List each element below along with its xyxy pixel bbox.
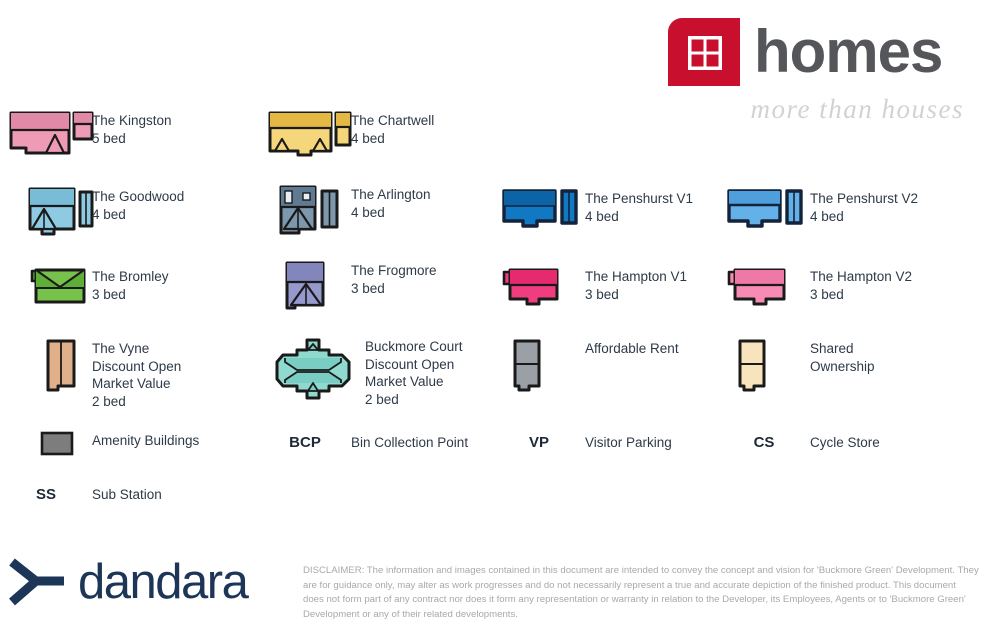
legend-item-the-hampton-v1[interactable]: The Hampton V1 3 bed <box>493 266 687 310</box>
legend-label-the-arlington: The Arlington 4 bed <box>351 184 431 221</box>
house-hampton-v1-icon <box>493 266 585 310</box>
legend-label-affordable-rent: Affordable Rent <box>585 338 679 358</box>
legend-item-affordable-rent[interactable]: Affordable Rent <box>493 338 679 398</box>
legend-item-the-chartwell[interactable]: The Chartwell 4 bed <box>259 110 434 158</box>
legend-label-the-chartwell: The Chartwell 4 bed <box>351 110 434 147</box>
legend-label-the-hampton-v1: The Hampton V1 3 bed <box>585 266 687 303</box>
legend-item-the-arlington[interactable]: The Arlington 4 bed <box>259 184 431 238</box>
footer: dandara DISCLAIMER: The information and … <box>0 548 981 632</box>
house-vyne-icon <box>0 338 92 398</box>
legend-row-1: The Kingston 5 bed The Chartwell <box>0 100 981 176</box>
legend-item-sub-station[interactable]: SS Sub Station <box>0 484 162 504</box>
legend-item-the-penshurst-v2[interactable]: The Penshurst V2 4 bed <box>718 188 918 232</box>
legend-item-visitor-parking[interactable]: VP Visitor Parking <box>493 432 672 452</box>
building-buckmore-court-icon <box>259 336 359 402</box>
house-bromley-icon <box>0 266 92 308</box>
legend-label-the-vyne: The Vyne Discount Open Market Value 2 be… <box>92 338 181 410</box>
legend-row-2: The Goodwood 4 bed T <box>0 176 981 254</box>
legend-item-the-kingston[interactable]: The Kingston 5 bed <box>0 110 172 158</box>
legend-label-shared-ownership: Shared Ownership <box>810 338 875 375</box>
legend-label-sub-station: Sub Station <box>92 484 162 504</box>
legend-label-the-penshurst-v2: The Penshurst V2 4 bed <box>810 188 918 225</box>
legend-item-the-frogmore[interactable]: The Frogmore 3 bed <box>259 260 437 312</box>
legend-item-amenity-buildings[interactable]: Amenity Buildings <box>0 430 199 458</box>
house-hampton-v2-icon <box>718 266 810 310</box>
house-penshurst-v1-icon <box>493 188 585 232</box>
legend-item-the-bromley[interactable]: The Bromley 3 bed <box>0 266 169 308</box>
dandara-chevron-icon <box>6 556 68 608</box>
legend-label-amenity-buildings: Amenity Buildings <box>92 430 199 450</box>
house-arlington-icon <box>259 184 351 238</box>
legend-label-the-penshurst-v1: The Penshurst V1 4 bed <box>585 188 693 225</box>
building-affordable-rent-icon <box>493 338 585 398</box>
legend-label-the-frogmore: The Frogmore 3 bed <box>351 260 437 297</box>
code-ss: SS <box>0 484 92 503</box>
house-frogmore-icon <box>259 260 351 312</box>
disclaimer-text: DISCLAIMER: The information and images c… <box>303 564 979 622</box>
dandara-logo: dandara <box>6 556 247 608</box>
legend-item-shared-ownership[interactable]: Shared Ownership <box>718 338 875 398</box>
legend-page: homes more than houses <box>0 0 981 632</box>
legend-item-cycle-store[interactable]: CS Cycle Store <box>718 432 880 452</box>
legend-label-bin-collection-point: Bin Collection Point <box>351 432 468 452</box>
code-cs: CS <box>718 432 810 451</box>
legend-item-the-vyne[interactable]: The Vyne Discount Open Market Value 2 be… <box>0 338 181 410</box>
swatch-amenity-icon <box>0 430 92 458</box>
house-goodwood-icon <box>0 186 92 238</box>
legend-label-the-bromley: The Bromley 3 bed <box>92 266 169 303</box>
legend-item-buckmore-court[interactable]: Buckmore Court Discount Open Market Valu… <box>259 336 463 408</box>
legend-label-visitor-parking: Visitor Parking <box>585 432 672 452</box>
legend-item-the-goodwood[interactable]: The Goodwood 4 bed <box>0 186 184 238</box>
house-kingston-icon <box>0 110 92 158</box>
house-chartwell-icon <box>259 110 351 158</box>
legend-label-the-kingston: The Kingston 5 bed <box>92 110 172 147</box>
legend-label-the-goodwood: The Goodwood 4 bed <box>92 186 184 223</box>
code-vp: VP <box>493 432 585 451</box>
legend-item-bin-collection-point[interactable]: BCP Bin Collection Point <box>259 432 468 452</box>
legend-label-buckmore-court: Buckmore Court Discount Open Market Valu… <box>359 336 463 408</box>
legend-row-5: Amenity Buildings BCP Bin Collection Poi… <box>0 426 981 478</box>
legend-row-6: SS Sub Station <box>0 478 981 524</box>
homes-logo-mark-icon <box>668 18 740 86</box>
legend-item-the-penshurst-v1[interactable]: The Penshurst V1 4 bed <box>493 188 693 232</box>
code-bcp: BCP <box>259 432 351 451</box>
legend-row-3: The Bromley 3 bed The Frogmore 3 bed <box>0 254 981 330</box>
dandara-wordmark: dandara <box>78 558 247 607</box>
house-penshurst-v2-icon <box>718 188 810 232</box>
legend-label-cycle-store: Cycle Store <box>810 432 880 452</box>
legend-container: The Kingston 5 bed The Chartwell <box>0 100 981 524</box>
brand-wordmark: homes <box>754 22 942 82</box>
building-shared-ownership-icon <box>718 338 810 398</box>
legend-row-4: The Vyne Discount Open Market Value 2 be… <box>0 330 981 426</box>
legend-label-the-hampton-v2: The Hampton V2 3 bed <box>810 266 912 303</box>
legend-item-the-hampton-v2[interactable]: The Hampton V2 3 bed <box>718 266 912 310</box>
